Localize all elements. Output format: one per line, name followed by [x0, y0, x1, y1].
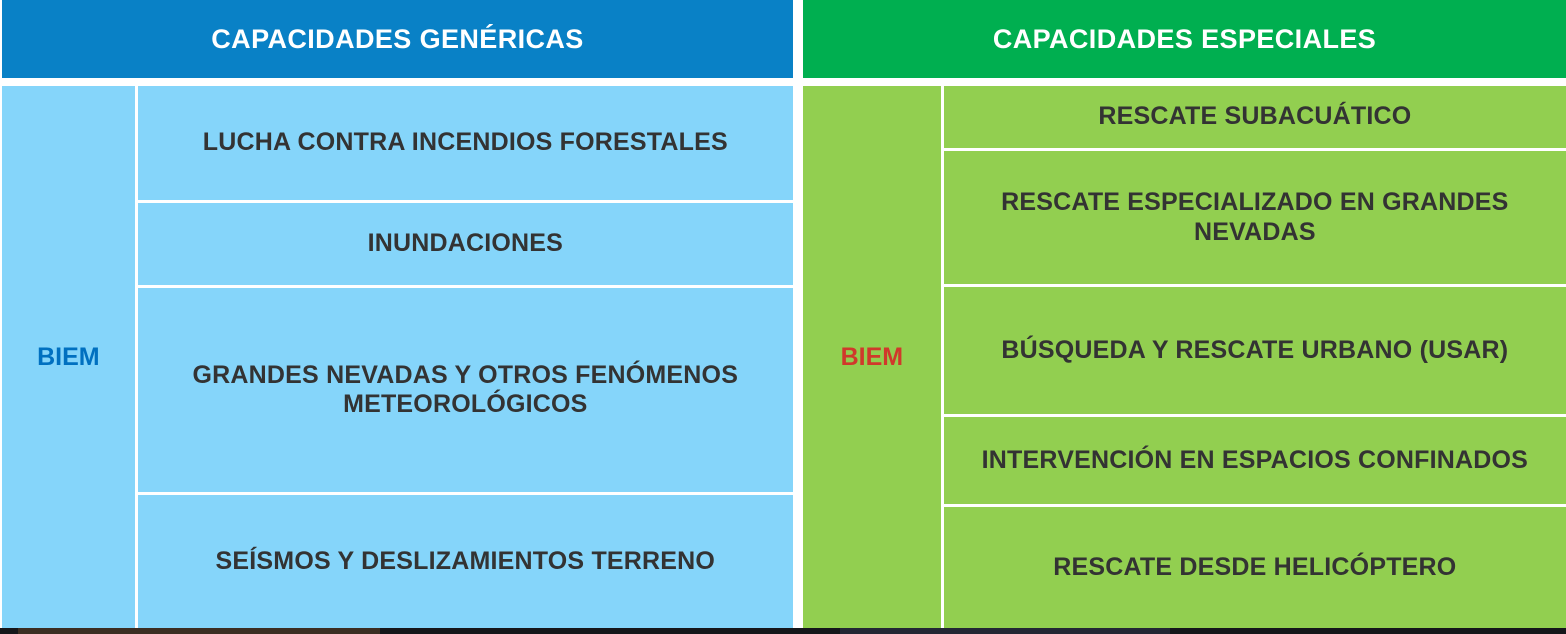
generic-rows-column: LUCHA CONTRA INCENDIOS FORESTALES INUNDA… — [138, 86, 793, 628]
special-capabilities-header: CAPACIDADES ESPECIALES — [803, 0, 1566, 78]
generic-capabilities-table: CAPACIDADES GENÉRICAS BIEM LUCHA CONTRA … — [2, 0, 793, 628]
table-row: RESCATE ESPECIALIZADO EN GRANDES NEVADAS — [944, 151, 1566, 284]
table-row: RESCATE SUBACUÁTICO — [944, 86, 1566, 148]
bottom-edge-segment-right — [840, 628, 1170, 634]
special-capabilities-table: CAPACIDADES ESPECIALES BIEM RESCATE SUBA… — [803, 0, 1566, 628]
special-group-cell-biem: BIEM — [803, 86, 941, 628]
generic-capabilities-body: BIEM LUCHA CONTRA INCENDIOS FORESTALES I… — [2, 86, 793, 628]
slide-canvas: CAPACIDADES GENÉRICAS BIEM LUCHA CONTRA … — [0, 0, 1566, 634]
table-row: BÚSQUEDA Y RESCATE URBANO (USAR) — [944, 287, 1566, 414]
table-row: RESCATE DESDE HELICÓPTERO — [944, 507, 1566, 628]
bottom-edge-strip — [0, 628, 1566, 634]
generic-group-cell-biem: BIEM — [2, 86, 135, 628]
table-row: SEÍSMOS Y DESLIZAMIENTOS TERRENO — [138, 495, 793, 628]
bottom-edge-segment-left — [18, 628, 380, 634]
generic-capabilities-header: CAPACIDADES GENÉRICAS — [2, 0, 793, 78]
table-row: GRANDES NEVADAS Y OTROS FENÓMENOS METEOR… — [138, 288, 793, 492]
table-row: INTERVENCIÓN EN ESPACIOS CONFINADOS — [944, 417, 1566, 504]
table-row: INUNDACIONES — [138, 203, 793, 285]
special-capabilities-body: BIEM RESCATE SUBACUÁTICO RESCATE ESPECIA… — [803, 86, 1566, 628]
special-rows-column: RESCATE SUBACUÁTICO RESCATE ESPECIALIZAD… — [944, 86, 1566, 628]
table-row: LUCHA CONTRA INCENDIOS FORESTALES — [138, 86, 793, 200]
